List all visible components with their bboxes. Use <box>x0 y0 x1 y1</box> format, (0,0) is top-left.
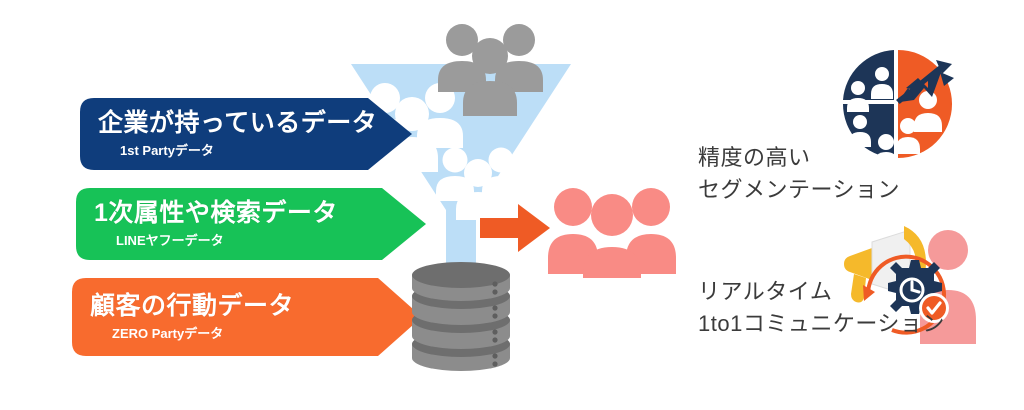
data-source-banner-line-yahoo[interactable]: 1次属性や検索データ LINEヤフーデータ <box>76 188 426 260</box>
outcome-realtime-line1: リアルタイム <box>698 276 945 308</box>
banner-shape <box>80 98 412 170</box>
data-source-banner-first-party[interactable]: 企業が持っているデータ 1st Partyデータ <box>80 98 412 170</box>
banner-shape <box>76 188 426 260</box>
outcome-realtime: リアルタイム 1to1コミュニケーション <box>698 276 945 340</box>
database-icon <box>406 262 516 380</box>
outcome-segmentation-line2: セグメンテーション <box>698 174 900 206</box>
outcome-segmentation: 精度の高い セグメンテーション <box>698 142 900 206</box>
target-audience-icon <box>548 182 676 278</box>
right-arrow-icon <box>480 202 550 254</box>
outcome-realtime-line2: 1to1コミュニケーション <box>698 308 945 340</box>
banner-shape <box>72 278 422 356</box>
data-source-banner-zero-party[interactable]: 顧客の行動データ ZERO Partyデータ <box>72 278 422 356</box>
diagram-canvas: 企業が持っているデータ 1st Partyデータ 1次属性や検索データ LINE… <box>0 0 1024 410</box>
outcome-segmentation-line1: 精度の高い <box>698 142 900 174</box>
